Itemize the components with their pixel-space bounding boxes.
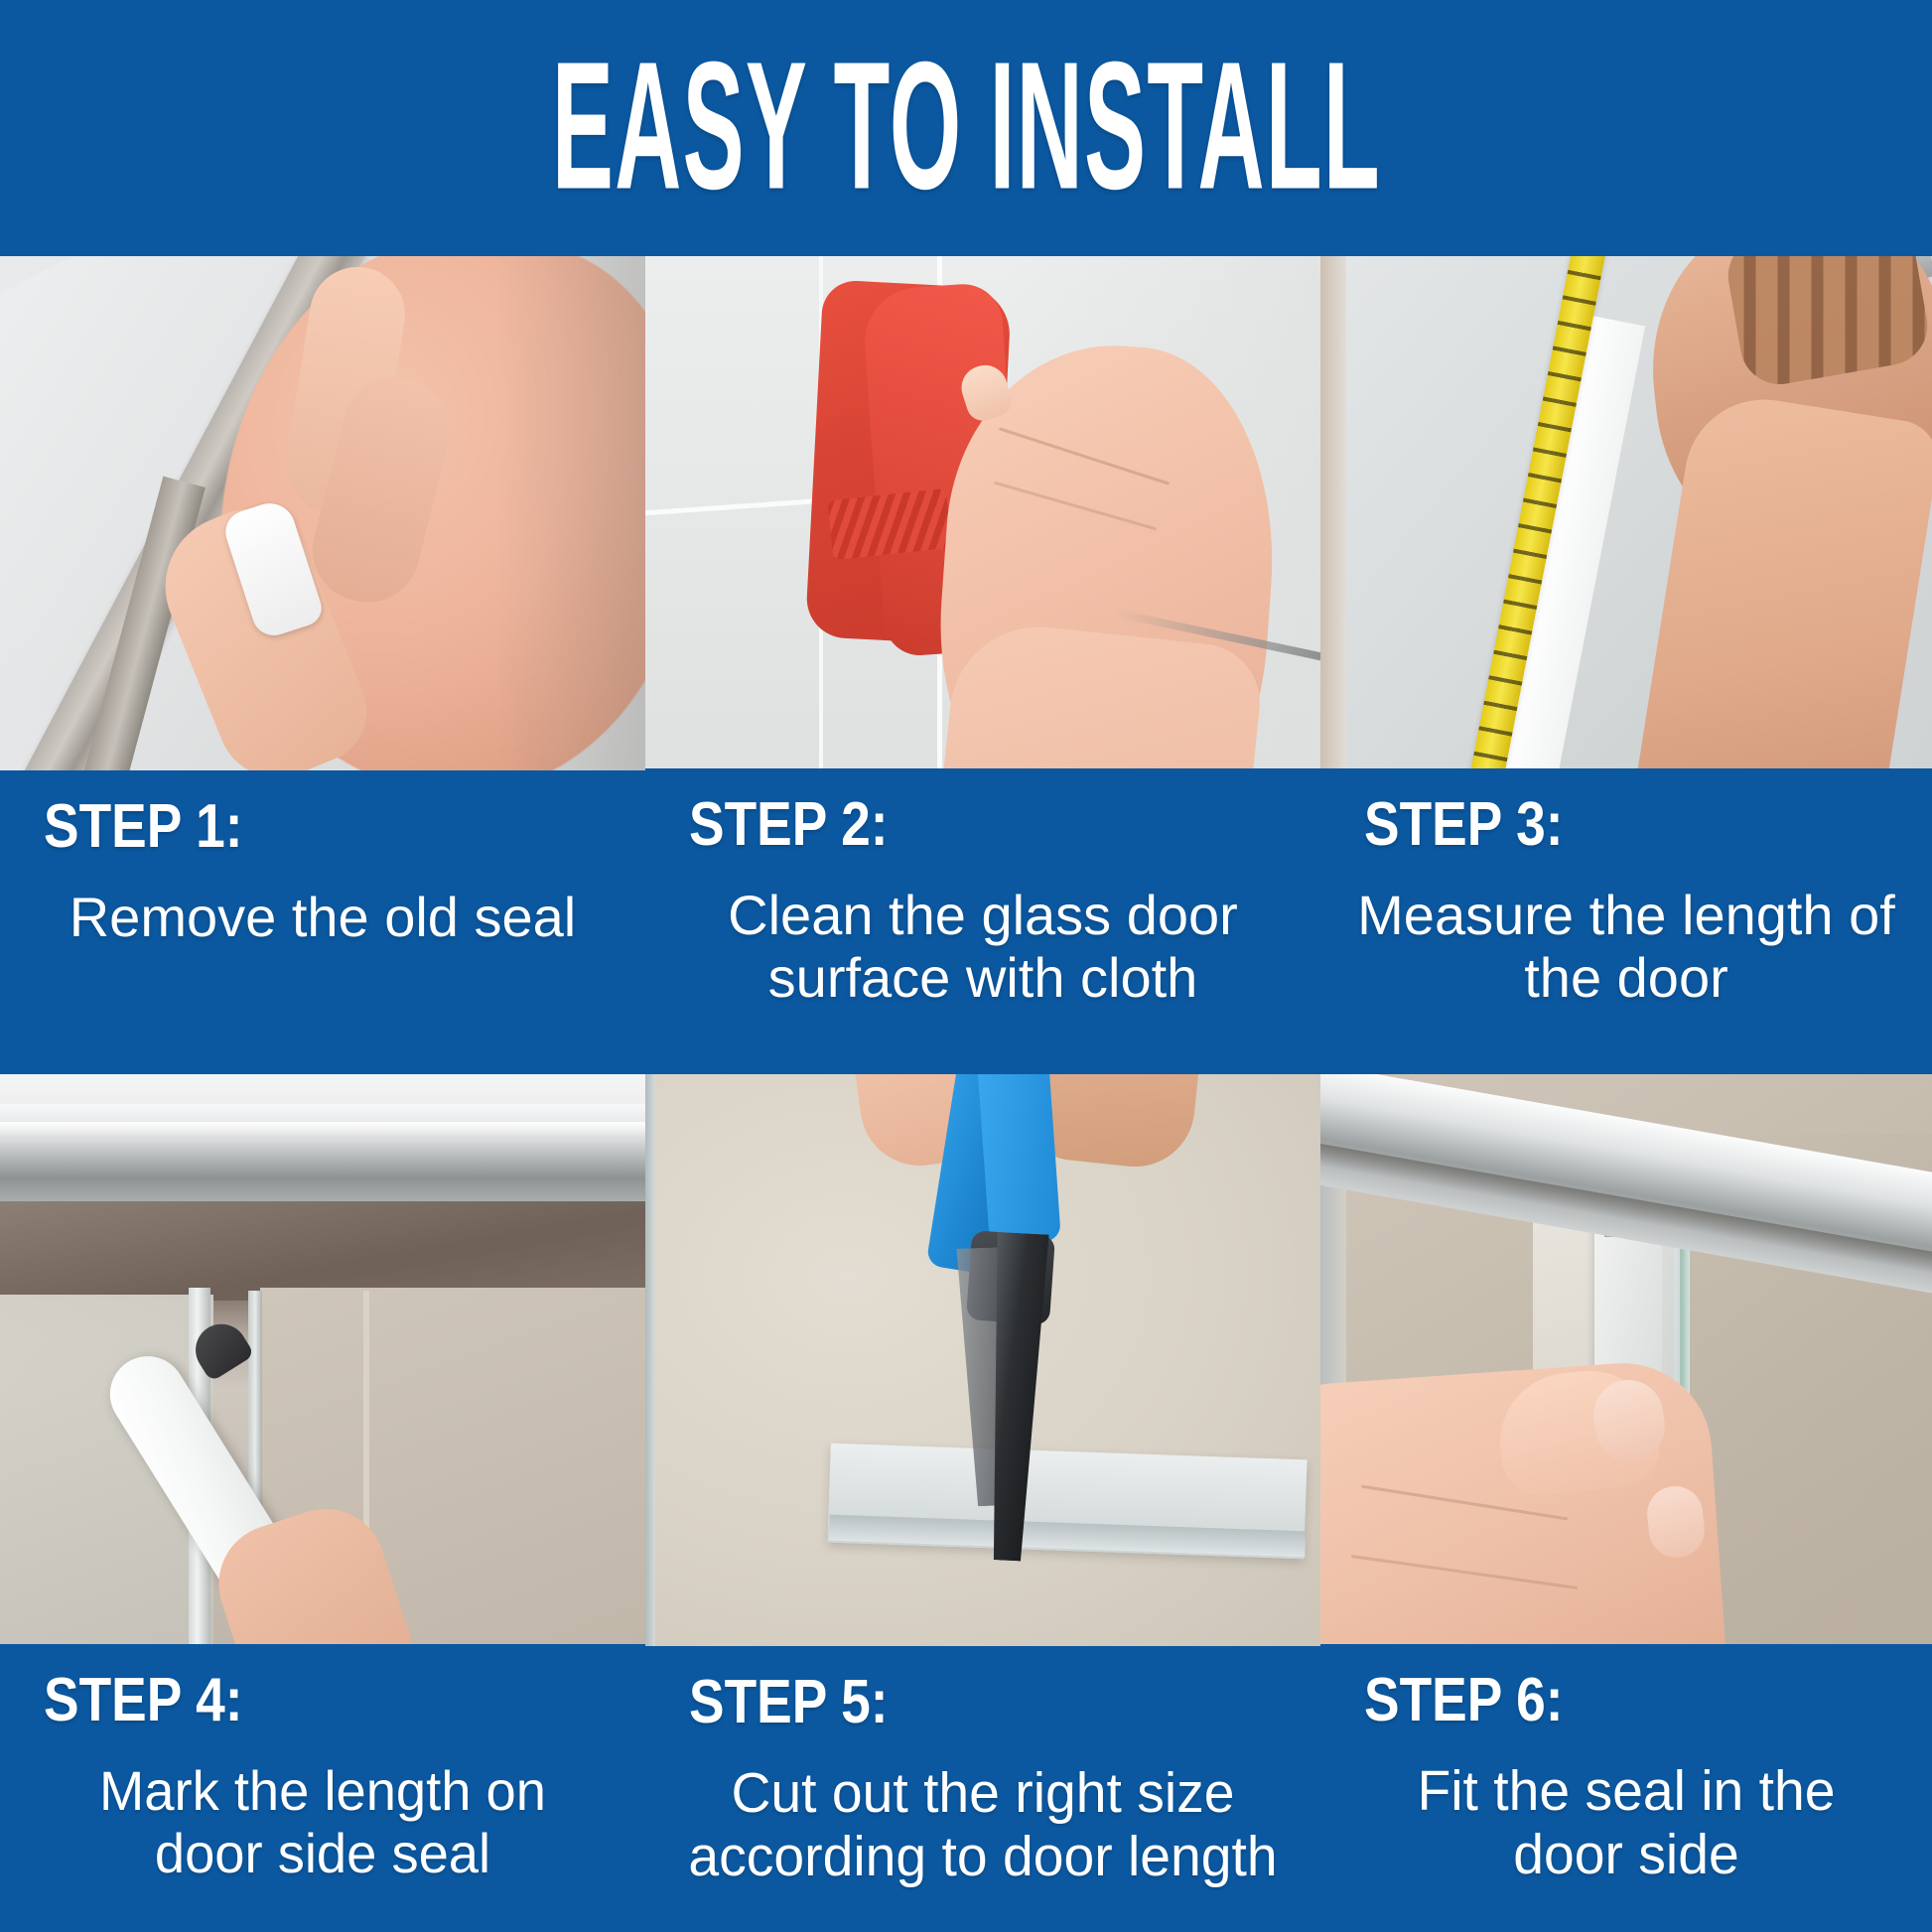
step-4-label: STEP 4: bbox=[44, 1670, 541, 1731]
step-card-1[interactable]: STEP 1: Remove the old seal bbox=[0, 256, 645, 1074]
chrome-rail-highlight bbox=[0, 1122, 645, 1138]
step-3-caption: STEP 3: Measure the length of the door bbox=[1320, 768, 1932, 1074]
step-card-3[interactable]: STEP 3: Measure the length of the door bbox=[1320, 256, 1932, 1074]
step-card-5[interactable]: STEP 5: Cut out the right size according… bbox=[645, 1074, 1320, 1932]
step-1-photo bbox=[0, 256, 645, 770]
step-2-caption: STEP 2: Clean the glass door surface wit… bbox=[645, 768, 1320, 1074]
scene-fit-seal-on-door bbox=[1320, 1074, 1932, 1644]
step-4-photo bbox=[0, 1074, 645, 1644]
step-card-2[interactable]: STEP 2: Clean the glass door surface wit… bbox=[645, 256, 1320, 1074]
dark-top-band bbox=[0, 1201, 645, 1301]
wall-shadow bbox=[496, 256, 645, 770]
step-4-caption: STEP 4: Mark the length on door side sea… bbox=[0, 1644, 645, 1932]
step-3-photo bbox=[1320, 256, 1932, 768]
step-card-4[interactable]: STEP 4: Mark the length on door side sea… bbox=[0, 1074, 645, 1932]
left-edge bbox=[645, 1074, 655, 1646]
step-6-photo bbox=[1320, 1074, 1932, 1644]
red-cloth-fold bbox=[827, 488, 952, 560]
step-5-caption: STEP 5: Cut out the right size according… bbox=[645, 1646, 1320, 1932]
step-2-label: STEP 2: bbox=[689, 794, 1211, 856]
shears-handle-right bbox=[976, 1074, 1061, 1245]
step-1-description: Remove the old seal bbox=[24, 886, 621, 948]
page-title: EASY TO INSTALL bbox=[551, 35, 1380, 216]
step-2-photo bbox=[645, 256, 1320, 768]
step-6-label: STEP 6: bbox=[1364, 1670, 1832, 1731]
scene-clean-glass-with-cloth bbox=[645, 256, 1320, 768]
steps-row-top: STEP 1: Remove the old seal bbox=[0, 256, 1932, 1074]
step-5-label: STEP 5: bbox=[689, 1672, 1211, 1733]
scene-mark-length-on-seal bbox=[0, 1074, 645, 1644]
scene-cut-seal-to-size bbox=[645, 1074, 1320, 1646]
step-6-caption: STEP 6: Fit the seal in the door side bbox=[1320, 1644, 1932, 1932]
step-3-description: Measure the length of the door bbox=[1344, 884, 1908, 1010]
step-6-description: Fit the seal in the door side bbox=[1353, 1759, 1900, 1887]
header-banner: EASY TO INSTALL bbox=[0, 0, 1932, 256]
scene-measure-door-length bbox=[1320, 256, 1932, 768]
step-5-photo bbox=[645, 1074, 1320, 1646]
step-3-label: STEP 3: bbox=[1364, 794, 1832, 856]
infographic-page: EASY TO INSTALL STEP 1 bbox=[0, 0, 1932, 1932]
step-1-caption: STEP 1: Remove the old seal bbox=[0, 770, 645, 1074]
step-5-description: Cut out the right size according to door… bbox=[678, 1761, 1287, 1889]
step-4-description: Mark the length on door side seal bbox=[33, 1759, 613, 1885]
steps-row-bottom: STEP 4: Mark the length on door side sea… bbox=[0, 1074, 1932, 1932]
scene-remove-old-seal bbox=[0, 256, 645, 770]
step-2-description: Clean the glass door surface with cloth bbox=[669, 884, 1297, 1010]
step-1-label: STEP 1: bbox=[44, 796, 541, 858]
step-card-6[interactable]: STEP 6: Fit the seal in the door side bbox=[1320, 1074, 1932, 1932]
